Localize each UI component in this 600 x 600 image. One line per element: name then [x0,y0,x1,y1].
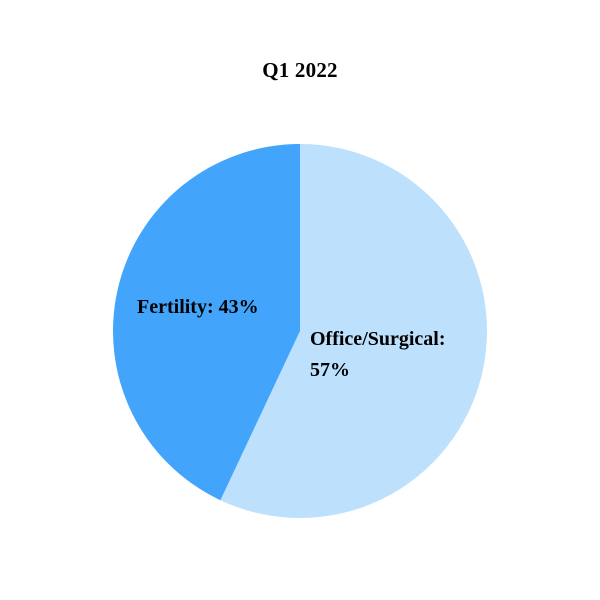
pie-label-office-surgical: Office/Surgical:57% [310,324,495,386]
pie-label-office-surgical-line1: Office/Surgical: [310,328,446,350]
pie-label-fertility: Fertility: 43% [137,292,302,323]
pie-chart-figure: Q1 2022 Fertility: 43% Office/Surgical:5… [0,0,600,600]
pie-label-office-surgical-line2: 57% [310,359,350,381]
pie-plot-area: Fertility: 43% Office/Surgical:57% [0,0,600,600]
